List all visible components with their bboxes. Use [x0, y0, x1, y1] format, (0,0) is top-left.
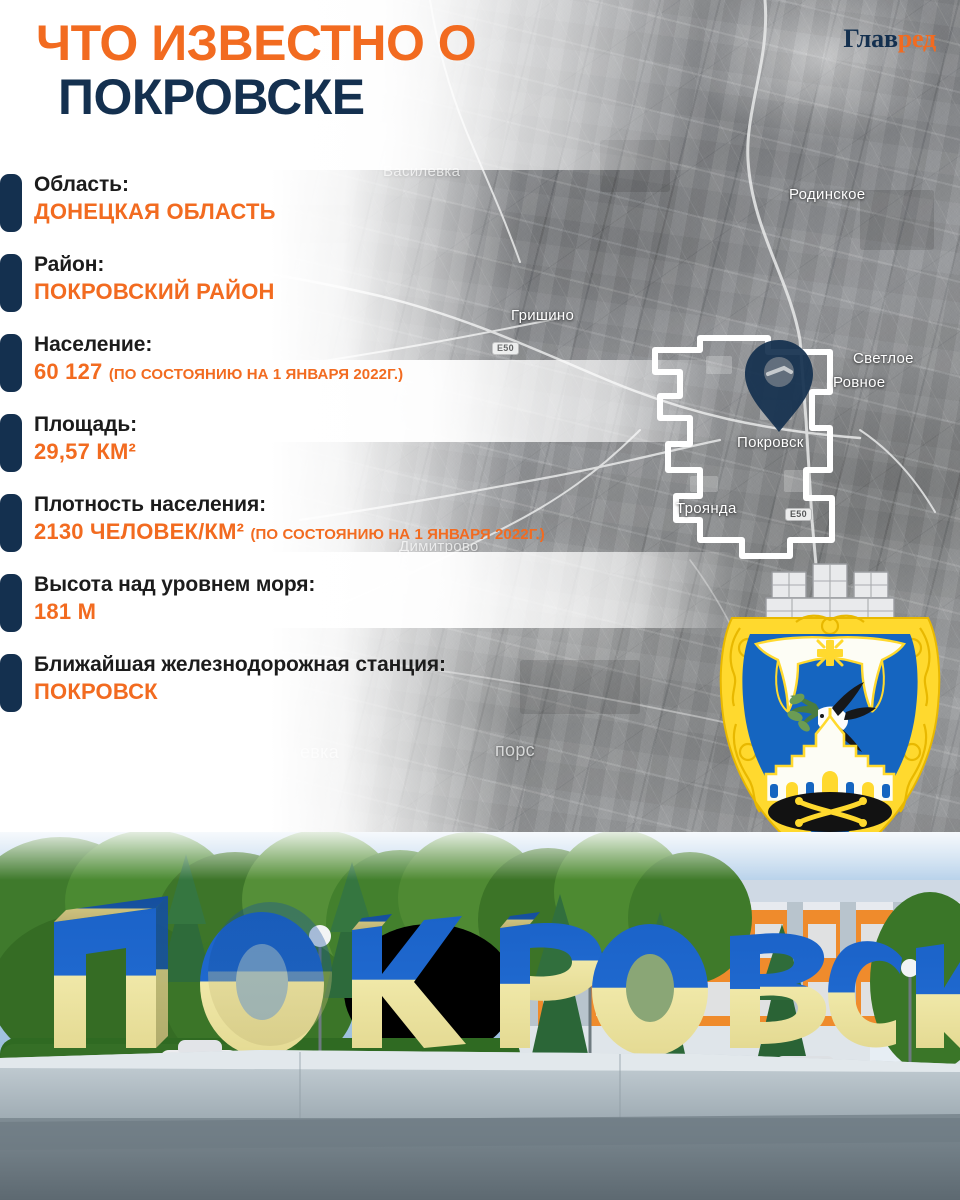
letter-O2 [592, 924, 708, 1056]
bullet-marker-icon [0, 494, 22, 552]
map-label-svetloe: Светлое [853, 350, 914, 367]
fact-value: 2130 ЧЕЛОВЕК/КМ² (ПО СОСТОЯНИЮ НА 1 ЯНВА… [34, 518, 760, 547]
fact-value: ДОНЕЦКАЯ ОБЛАСТЬ [34, 198, 760, 227]
bullet-marker-icon [0, 334, 22, 392]
fact-value: 29,57 КМ² [34, 438, 760, 467]
mural-crown-icon [766, 564, 894, 624]
fact-row-area: Площадь: 29,57 КМ² [0, 412, 760, 474]
bullet-marker-icon [0, 174, 22, 232]
fact-label: Плотность населения: [34, 492, 760, 518]
city-stela-photo [0, 832, 960, 1200]
fact-label: Область: [34, 172, 760, 198]
fact-value: 60 127 (ПО СОСТОЯНИЮ НА 1 ЯНВАРЯ 2022Г.) [34, 358, 760, 387]
bullet-marker-icon [0, 574, 22, 632]
bullet-marker-icon [0, 414, 22, 472]
facts-list: Область: ДОНЕЦКАЯ ОБЛАСТЬ Район: ПОКРОВС… [0, 172, 760, 732]
fact-label: Район: [34, 252, 760, 278]
fact-value-number: 60 127 [34, 359, 103, 384]
fact-label: Ближайшая железнодорожная станция: [34, 652, 760, 678]
infographic-root: Василевка Родинское Гришино Светлое Ровн… [0, 0, 960, 1200]
fact-row-elevation: Высота над уровнем моря: 181 М [0, 572, 760, 634]
title-line-1: ЧТО ИЗВЕСТНО О [36, 16, 676, 70]
photo-scene [0, 832, 960, 1200]
fact-label: Высота над уровнем моря: [34, 572, 760, 598]
bullet-marker-icon [0, 654, 22, 712]
brand-logo-glavred[interactable]: Главред [843, 26, 936, 52]
bullet-marker-icon [0, 254, 22, 312]
fact-row-railway-station: Ближайшая железнодорожная станция: ПОКРО… [0, 652, 760, 714]
fact-value: 181 М [34, 598, 760, 627]
map-label-rodinskoe: Родинское [789, 186, 865, 203]
crossed-sabers-on-mound-icon [768, 792, 892, 832]
cross-icon [817, 640, 843, 666]
fact-label: Население: [34, 332, 760, 358]
fact-value-number: 2130 ЧЕЛОВЕК/КМ² [34, 519, 244, 544]
letter-V [730, 933, 826, 1048]
road-shield-e50-east: E50 [785, 508, 812, 521]
fact-label: Площадь: [34, 412, 760, 438]
title-line-2: ПОКРОВСКЕ [36, 70, 676, 124]
brand-part-red: ред [898, 24, 936, 53]
fact-row-population: Население: 60 127 (ПО СОСТОЯНИЮ НА 1 ЯНВ… [0, 332, 760, 394]
fact-row-oblast: Область: ДОНЕЦКАЯ ОБЛАСТЬ [0, 172, 760, 234]
fact-value-note: (ПО СОСТОЯНИЮ НА 1 ЯНВАРЯ 2022Г.) [109, 366, 403, 383]
fact-value: ПОКРОВСК [34, 678, 760, 707]
brand-part-glav: Глав [843, 24, 897, 53]
fact-row-rayon: Район: ПОКРОВСКИЙ РАЙОН [0, 252, 760, 314]
photo-top-fade [0, 832, 960, 880]
fact-value: ПОКРОВСКИЙ РАЙОН [34, 278, 760, 307]
page-title: ЧТО ИЗВЕСТНО О ПОКРОВСКЕ [36, 16, 676, 124]
fact-value-note: (ПО СОСТОЯНИЮ НА 1 ЯНВАРЯ 2022Г.) [250, 526, 544, 543]
fact-row-density: Плотность населения: 2130 ЧЕЛОВЕК/КМ² (П… [0, 492, 760, 554]
map-label-rovnoe: Ровное [833, 374, 885, 391]
